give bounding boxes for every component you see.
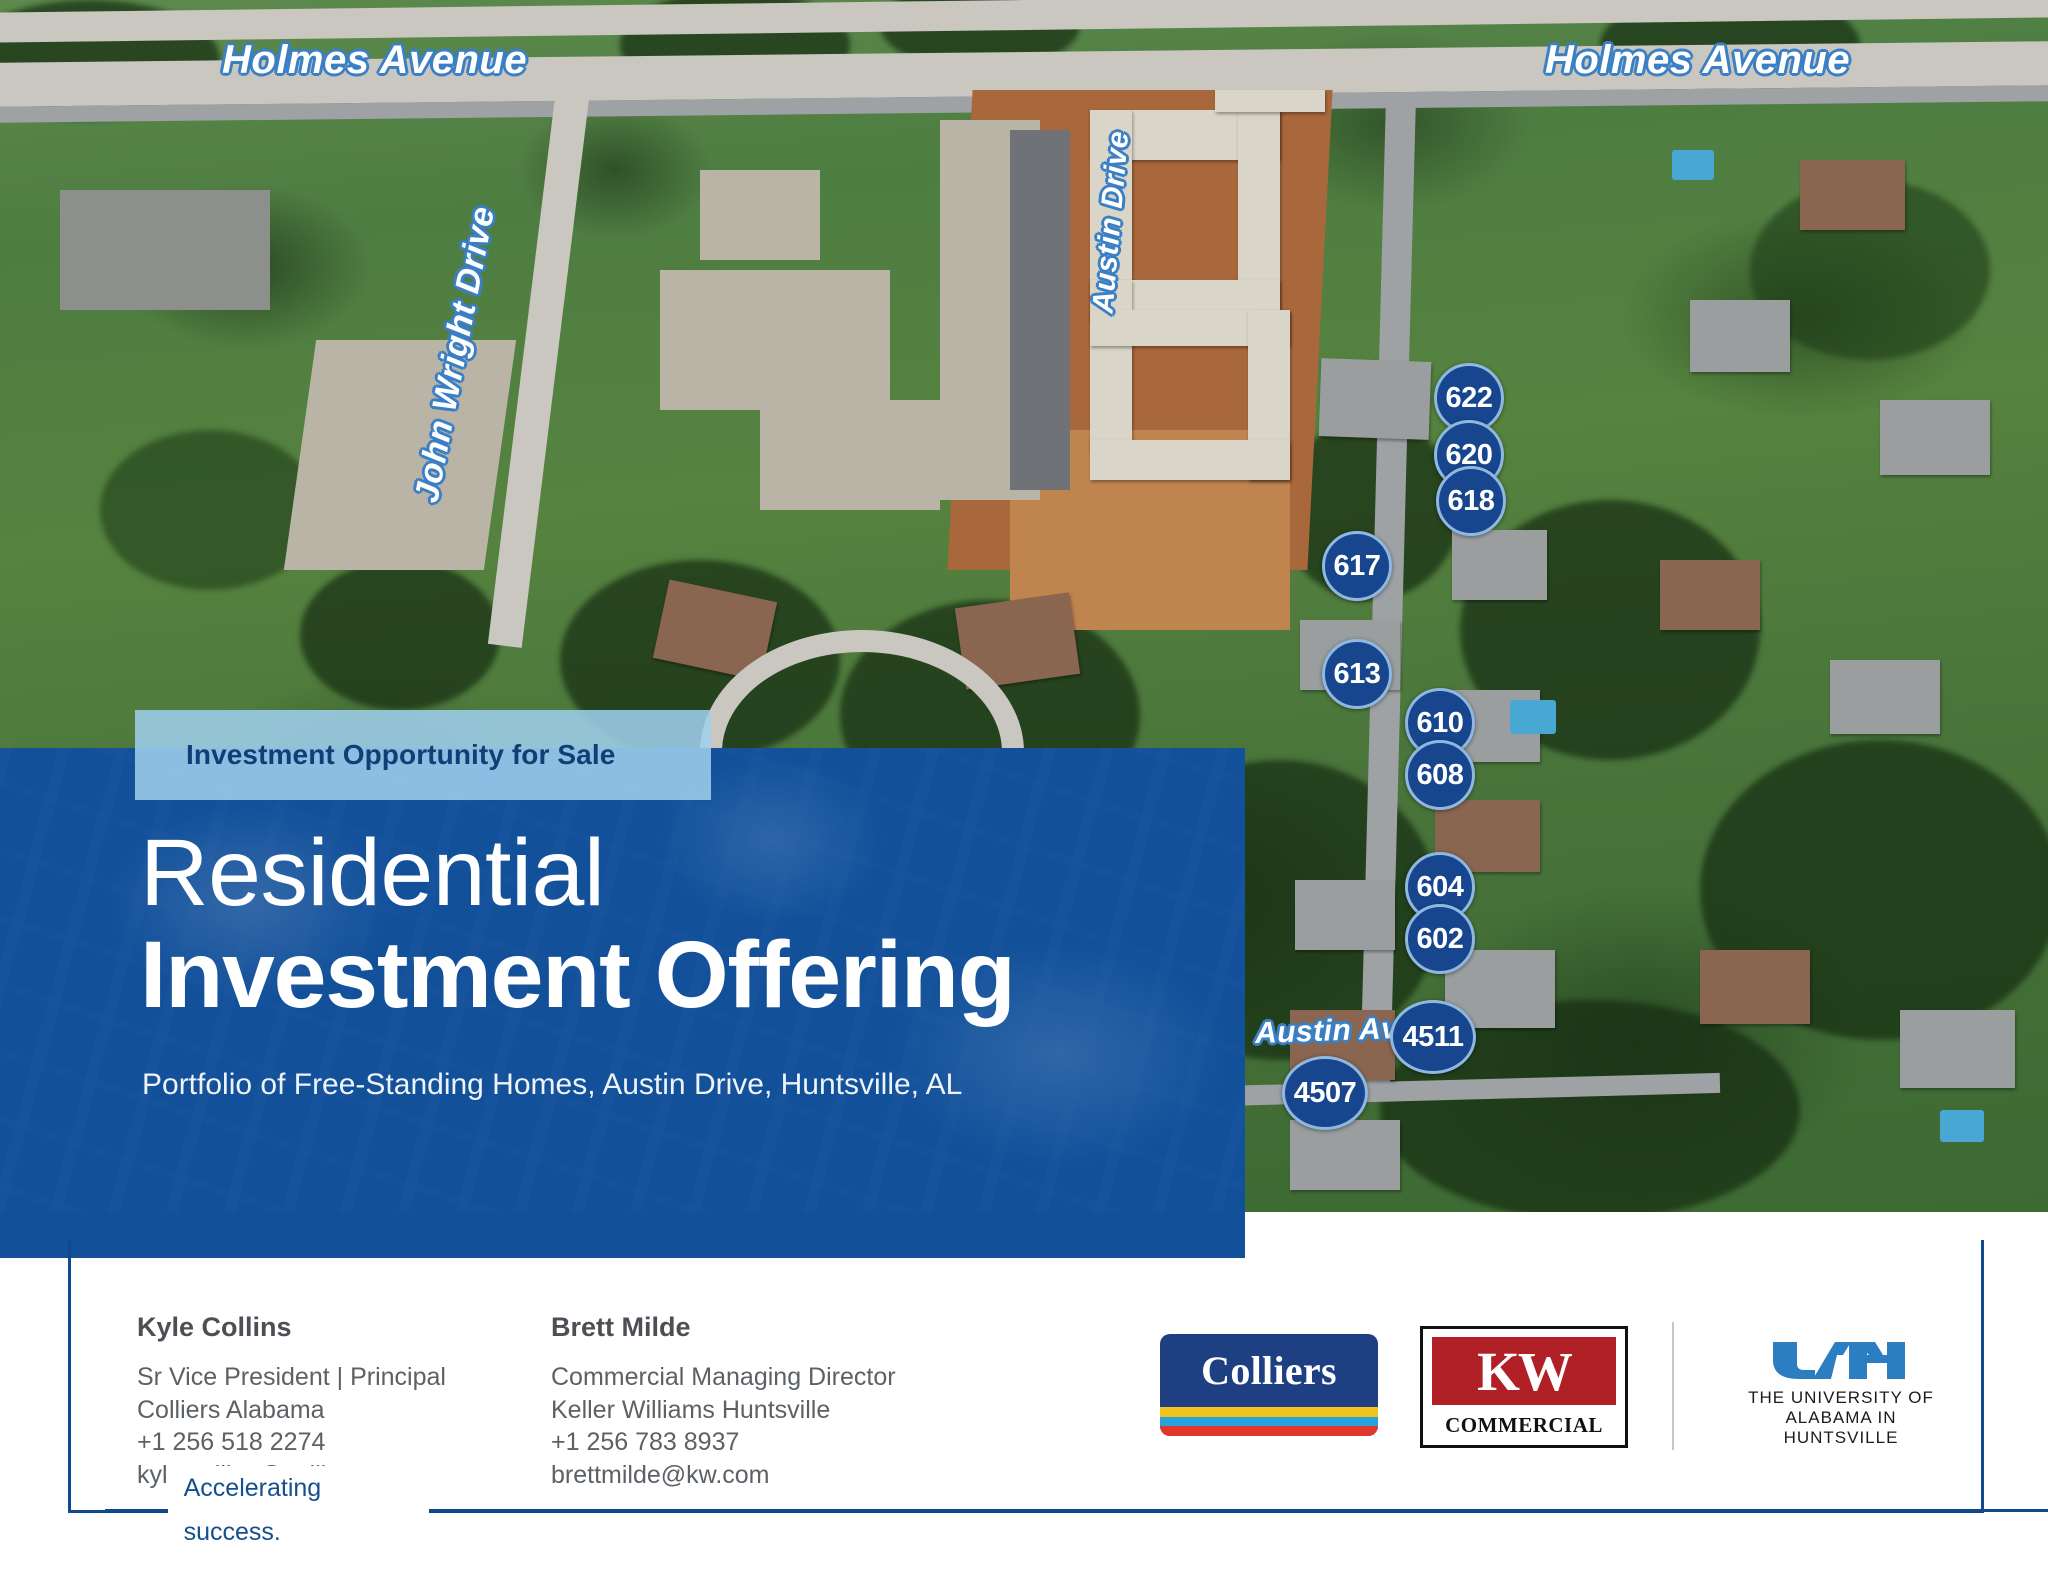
colliers-wordmark: Colliers — [1160, 1334, 1378, 1407]
campus-building-roof — [760, 400, 940, 510]
page-title-line-2: Investment Offering — [140, 928, 1015, 1023]
property-pin-613[interactable]: 613 — [1322, 639, 1392, 709]
colliers-stripe-blue — [1160, 1417, 1378, 1426]
house-roof — [1660, 560, 1760, 630]
kw-initials: KW — [1477, 1344, 1571, 1399]
house-roof — [1319, 358, 1432, 440]
page-title-line-1: Residential — [140, 826, 605, 921]
property-pin-4511[interactable]: 4511 — [1390, 1000, 1476, 1074]
tagline-wrapper: Accelerating success. — [105, 1488, 2048, 1532]
house-roof — [1880, 400, 1990, 475]
property-pin-4507[interactable]: 4507 — [1282, 1056, 1368, 1130]
house-roof — [1900, 1010, 2015, 1088]
contact-company: Colliers Alabama — [137, 1394, 446, 1427]
house-roof — [1700, 950, 1810, 1024]
street-label-holmes-avenue-right: Holmes Avenue — [1545, 38, 1850, 83]
contact-name: Brett Milde — [551, 1312, 896, 1343]
property-pin-618[interactable]: 618 — [1436, 466, 1506, 536]
swimming-pool — [1510, 700, 1556, 734]
property-pin-602[interactable]: 602 — [1405, 904, 1475, 974]
contact-card-brett-milde: Brett Milde Commercial Managing Director… — [551, 1312, 896, 1491]
contact-title: Commercial Managing Director — [551, 1361, 896, 1394]
ribbon-label: Investment Opportunity for Sale — [135, 739, 615, 771]
uah-name-line-2: ALABAMA IN HUNTSVILLE — [1730, 1408, 1952, 1448]
house-roof — [1800, 160, 1905, 230]
construction-access-road — [1010, 130, 1070, 490]
kw-commercial-logo: KW COMMERCIAL — [1420, 1326, 1628, 1448]
campus-building-roof — [700, 170, 820, 260]
contact-name: Kyle Collins — [137, 1312, 446, 1343]
tree-cluster — [300, 560, 500, 710]
uah-mark-icon — [1730, 1336, 1952, 1380]
contact-title: Sr Vice President | Principal — [137, 1361, 446, 1394]
contact-company: Keller Williams Huntsville — [551, 1394, 896, 1427]
kw-subtitle: COMMERCIAL — [1423, 1413, 1625, 1438]
house-roof — [1290, 1120, 1400, 1190]
colliers-stripe-red — [1160, 1426, 1378, 1436]
contact-card-kyle-collins: Kyle Collins Sr Vice President | Princip… — [137, 1312, 446, 1491]
colliers-logo: Colliers — [1160, 1334, 1378, 1436]
tagline-rule-left — [105, 1509, 168, 1512]
construction-trailer — [1215, 90, 1325, 112]
uah-name-line-1: THE UNIVERSITY OF — [1730, 1388, 1952, 1408]
swimming-pool — [1672, 150, 1714, 180]
swimming-pool — [1940, 1110, 1984, 1142]
house-roof — [1295, 880, 1395, 950]
house-roof — [1830, 660, 1940, 734]
contact-email[interactable]: brettmilde@kw.com — [551, 1459, 896, 1492]
property-pin-617[interactable]: 617 — [1322, 531, 1392, 601]
tagline-rule-right — [429, 1509, 2048, 1512]
contact-phone[interactable]: +1 256 518 2274 — [137, 1426, 446, 1459]
investment-opportunity-ribbon: Investment Opportunity for Sale — [135, 710, 711, 800]
uah-logo: THE UNIVERSITY OF ALABAMA IN HUNTSVILLE — [1730, 1336, 1952, 1440]
page-subtitle: Portfolio of Free-Standing Homes, Austin… — [142, 1068, 962, 1102]
parking-lot — [284, 340, 516, 570]
new-building-under-construction — [1090, 440, 1290, 480]
kw-red-block: KW — [1432, 1337, 1616, 1405]
contact-phone[interactable]: +1 256 783 8937 — [551, 1426, 896, 1459]
house-roof — [1690, 300, 1790, 372]
logo-divider — [1672, 1322, 1674, 1450]
house-roof — [1452, 530, 1547, 600]
property-pin-608[interactable]: 608 — [1405, 740, 1475, 810]
campus-building-roof — [60, 190, 270, 310]
colliers-tagline: Accelerating success. — [168, 1466, 429, 1554]
campus-building-roof — [660, 270, 890, 410]
colliers-stripe-yellow — [1160, 1407, 1378, 1417]
street-label-holmes-avenue-left: Holmes Avenue — [222, 38, 527, 83]
